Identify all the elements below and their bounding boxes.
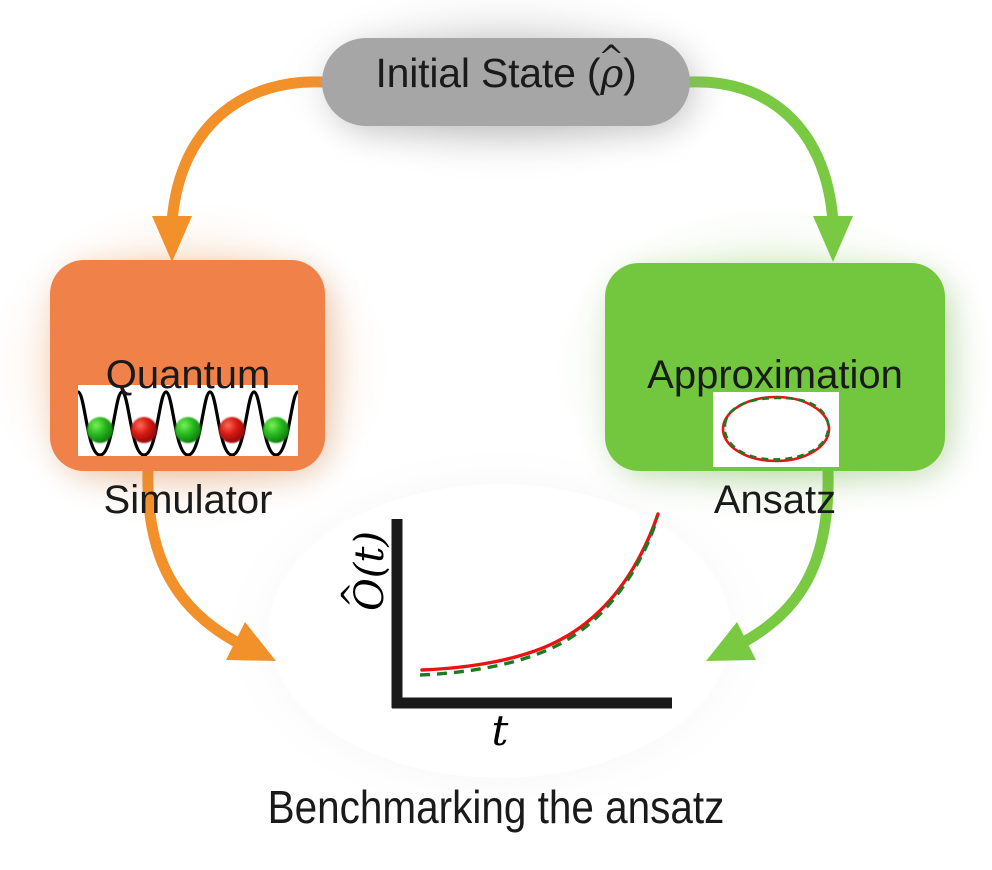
lattice-atom [175, 417, 201, 443]
node-approximation-ansatz[interactable] [605, 263, 951, 477]
benchmark-ellipse-background [269, 484, 731, 778]
optical-lattice-inset [78, 385, 298, 456]
workflow-diagram [0, 0, 992, 870]
benchmark-plot-node[interactable] [269, 484, 731, 778]
lattice-atom [87, 417, 113, 443]
initial-state-box[interactable] [322, 38, 690, 126]
diagram-canvas: Initial State (^ρ) Quantum Simulator App… [0, 0, 992, 870]
node-quantum-simulator[interactable] [50, 260, 330, 476]
phase-space-background [713, 392, 839, 467]
node-initial-state[interactable] [322, 38, 694, 132]
phase-space-inset [713, 392, 839, 467]
lattice-atom [219, 417, 245, 443]
lattice-atom [263, 417, 289, 443]
lattice-atom [131, 417, 157, 443]
